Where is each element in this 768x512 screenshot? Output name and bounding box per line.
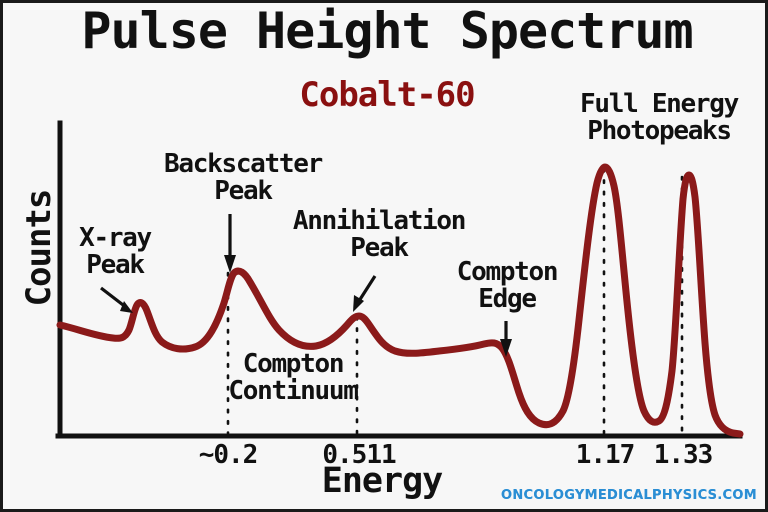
annihilation-peak-arrow	[353, 276, 375, 312]
annotation-full-energy-photopeaks: Full Energy Photopeaks	[580, 91, 738, 144]
annotation-compton-continuum: Compton Continuum	[228, 351, 357, 404]
x-ray-peak-arrow	[101, 288, 133, 313]
annotation-backscatter-peak: Backscatter Peak	[164, 151, 322, 204]
annotation-compton-edge: Compton Edge	[457, 259, 557, 312]
x-tick-label-2: 1.17	[576, 440, 635, 470]
x-tick-label-1: 0.511	[322, 440, 395, 470]
x-tick-label-3: 1.33	[654, 440, 713, 470]
x-tick-label-0: ~0.2	[199, 440, 258, 470]
backscatter-peak-arrow	[224, 214, 236, 273]
watermark-oncologymedicalphysics: ONCOLOGYMEDICALPHYSICS.COM	[501, 488, 757, 503]
annotation-x-ray-peak: X-ray Peak	[79, 225, 151, 278]
annotation-annihilation-peak: Annihilation Peak	[293, 208, 465, 261]
figure-canvas: Pulse Height Spectrum Cobalt-60 Counts E…	[0, 0, 768, 512]
